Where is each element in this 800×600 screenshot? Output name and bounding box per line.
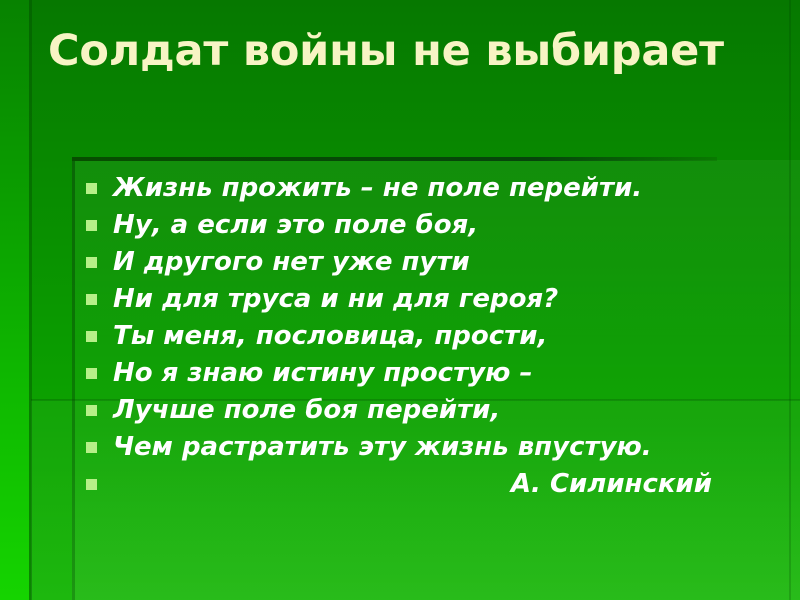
list-item-label: Лучше поле боя перейти, — [113, 395, 500, 425]
list-item-label: Но я знаю истину простую – — [113, 358, 532, 388]
square-bullet-icon — [86, 183, 97, 194]
content-panel-left-edge — [72, 160, 75, 600]
list-item-label: Ну, а если это поле боя, — [113, 210, 478, 240]
presentation-slide: Солдат войны не выбирает Жизнь прожить –… — [0, 0, 800, 600]
square-bullet-icon — [86, 331, 97, 342]
list-item-label: Жизнь прожить – не поле перейти. — [113, 173, 642, 203]
list-item: Но я знаю истину простую – — [84, 355, 784, 392]
left-accent-band — [0, 0, 29, 600]
square-bullet-icon — [86, 294, 97, 305]
square-bullet-icon — [86, 442, 97, 453]
right-background-edge — [789, 0, 791, 600]
list-item-label: Ты меня, пословица, прости, — [113, 321, 547, 351]
square-bullet-icon — [86, 368, 97, 379]
poem-bullet-list: Жизнь прожить – не поле перейти. Ну, а е… — [84, 170, 784, 503]
list-item: И другого нет уже пути — [84, 244, 784, 281]
square-bullet-icon — [86, 257, 97, 268]
square-bullet-icon — [86, 479, 97, 490]
list-item-label: Чем растратить эту жизнь впустую. — [113, 432, 652, 462]
list-item-label: Ни для труса и ни для героя? — [113, 284, 558, 314]
list-item: Лучше поле боя перейти, — [84, 392, 784, 429]
list-item: Ни для труса и ни для героя? — [84, 281, 784, 318]
list-item-author: А. Силинский — [84, 466, 784, 503]
list-item: Жизнь прожить – не поле перейти. — [84, 170, 784, 207]
list-item: Ну, а если это поле боя, — [84, 207, 784, 244]
title-separator-rule — [72, 157, 717, 161]
square-bullet-icon — [86, 405, 97, 416]
list-item-label: И другого нет уже пути — [113, 247, 470, 277]
author-label: А. Силинский — [511, 469, 712, 499]
square-bullet-icon — [86, 220, 97, 231]
slide-title: Солдат войны не выбирает — [48, 26, 748, 76]
list-item: Ты меня, пословица, прости, — [84, 318, 784, 355]
list-item: Чем растратить эту жизнь впустую. — [84, 429, 784, 466]
